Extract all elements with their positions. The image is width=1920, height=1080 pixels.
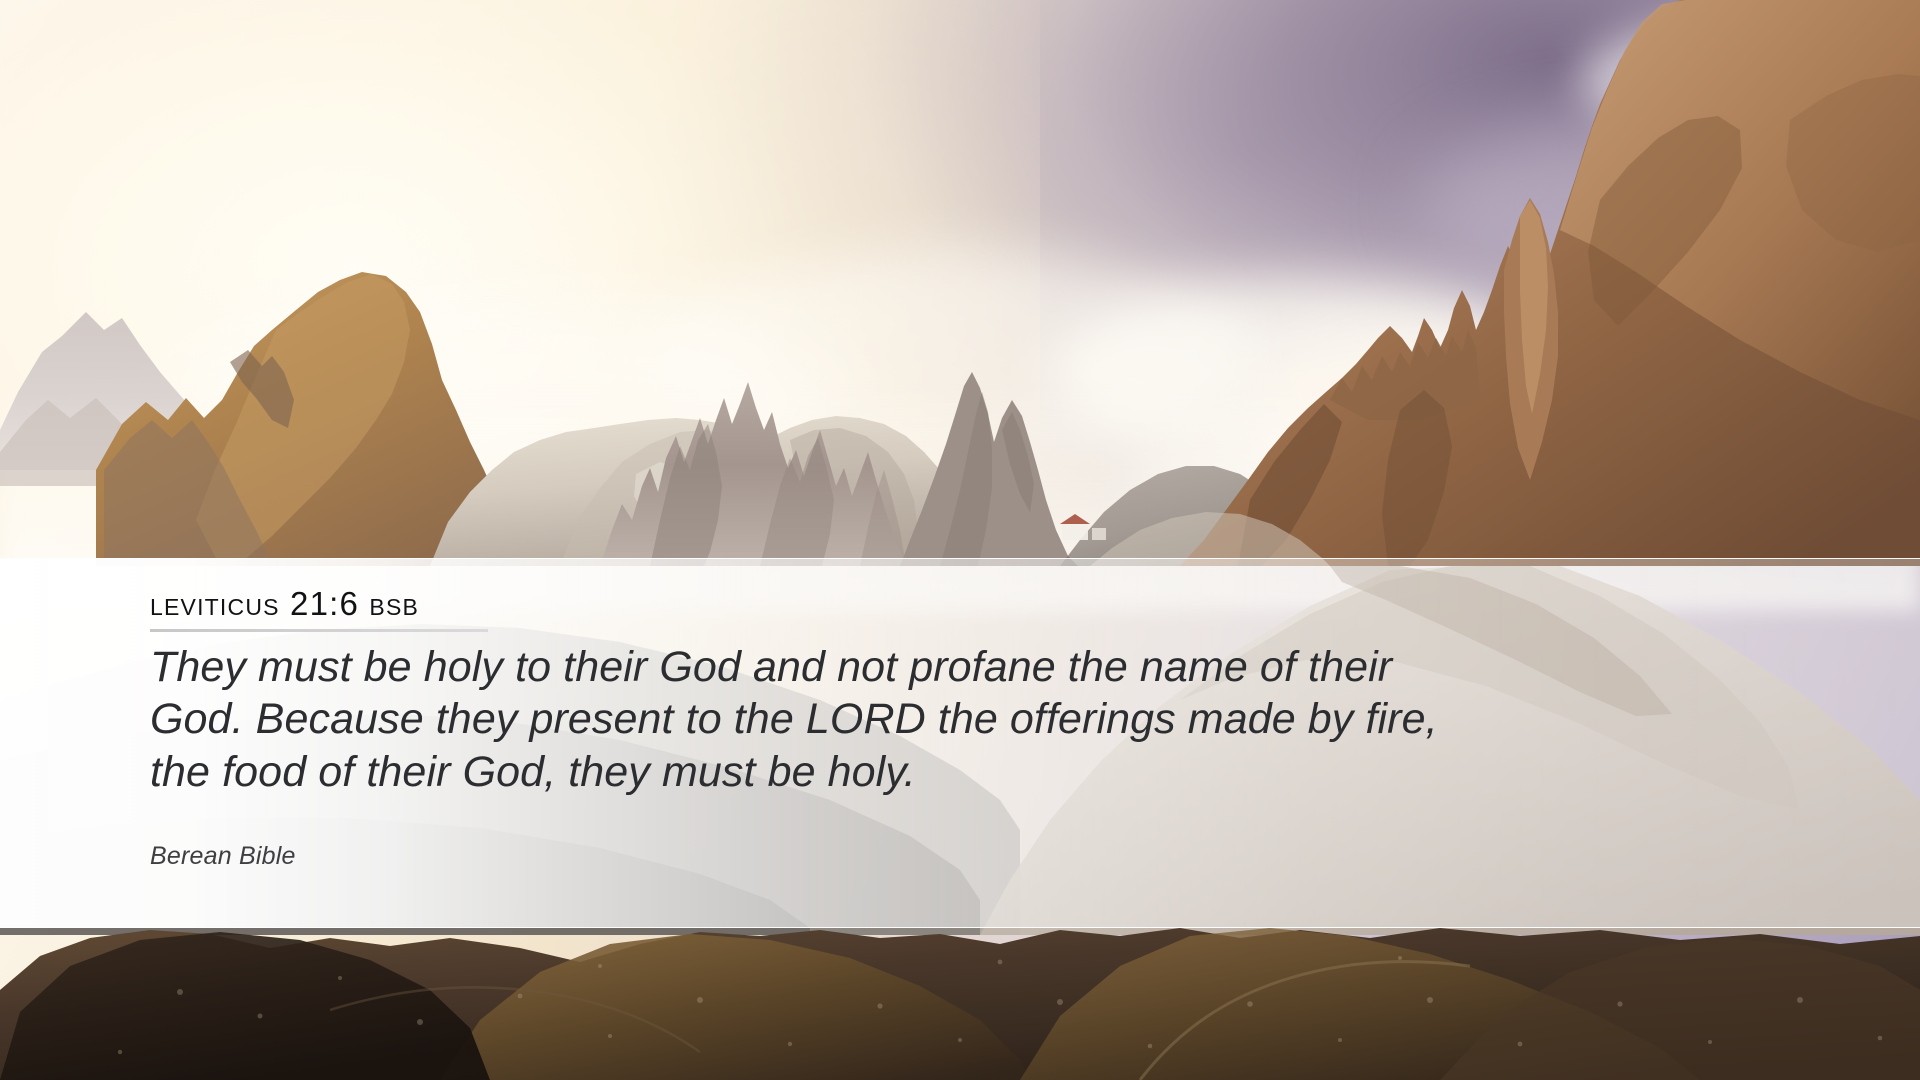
verse-content: Leviticus 21:6 BSB They must be holy to …	[150, 559, 1750, 927]
verse-reference: Leviticus 21:6 BSB	[150, 587, 419, 620]
verse-line-2: God. Because they present to the LORD th…	[150, 693, 1450, 745]
verse-overlay-panel: Leviticus 21:6 BSB They must be holy to …	[0, 558, 1920, 928]
verse-line-1: They must be holy to their God and not p…	[150, 641, 1450, 693]
verse-text: They must be holy to their God and not p…	[150, 641, 1450, 798]
verse-line-3: the food of their God, they must be holy…	[150, 746, 1450, 798]
scripture-wallpaper: Leviticus 21:6 BSB They must be holy to …	[0, 0, 1920, 1080]
verse-reference-underline	[150, 629, 488, 632]
verse-credit: Berean Bible	[150, 842, 296, 871]
